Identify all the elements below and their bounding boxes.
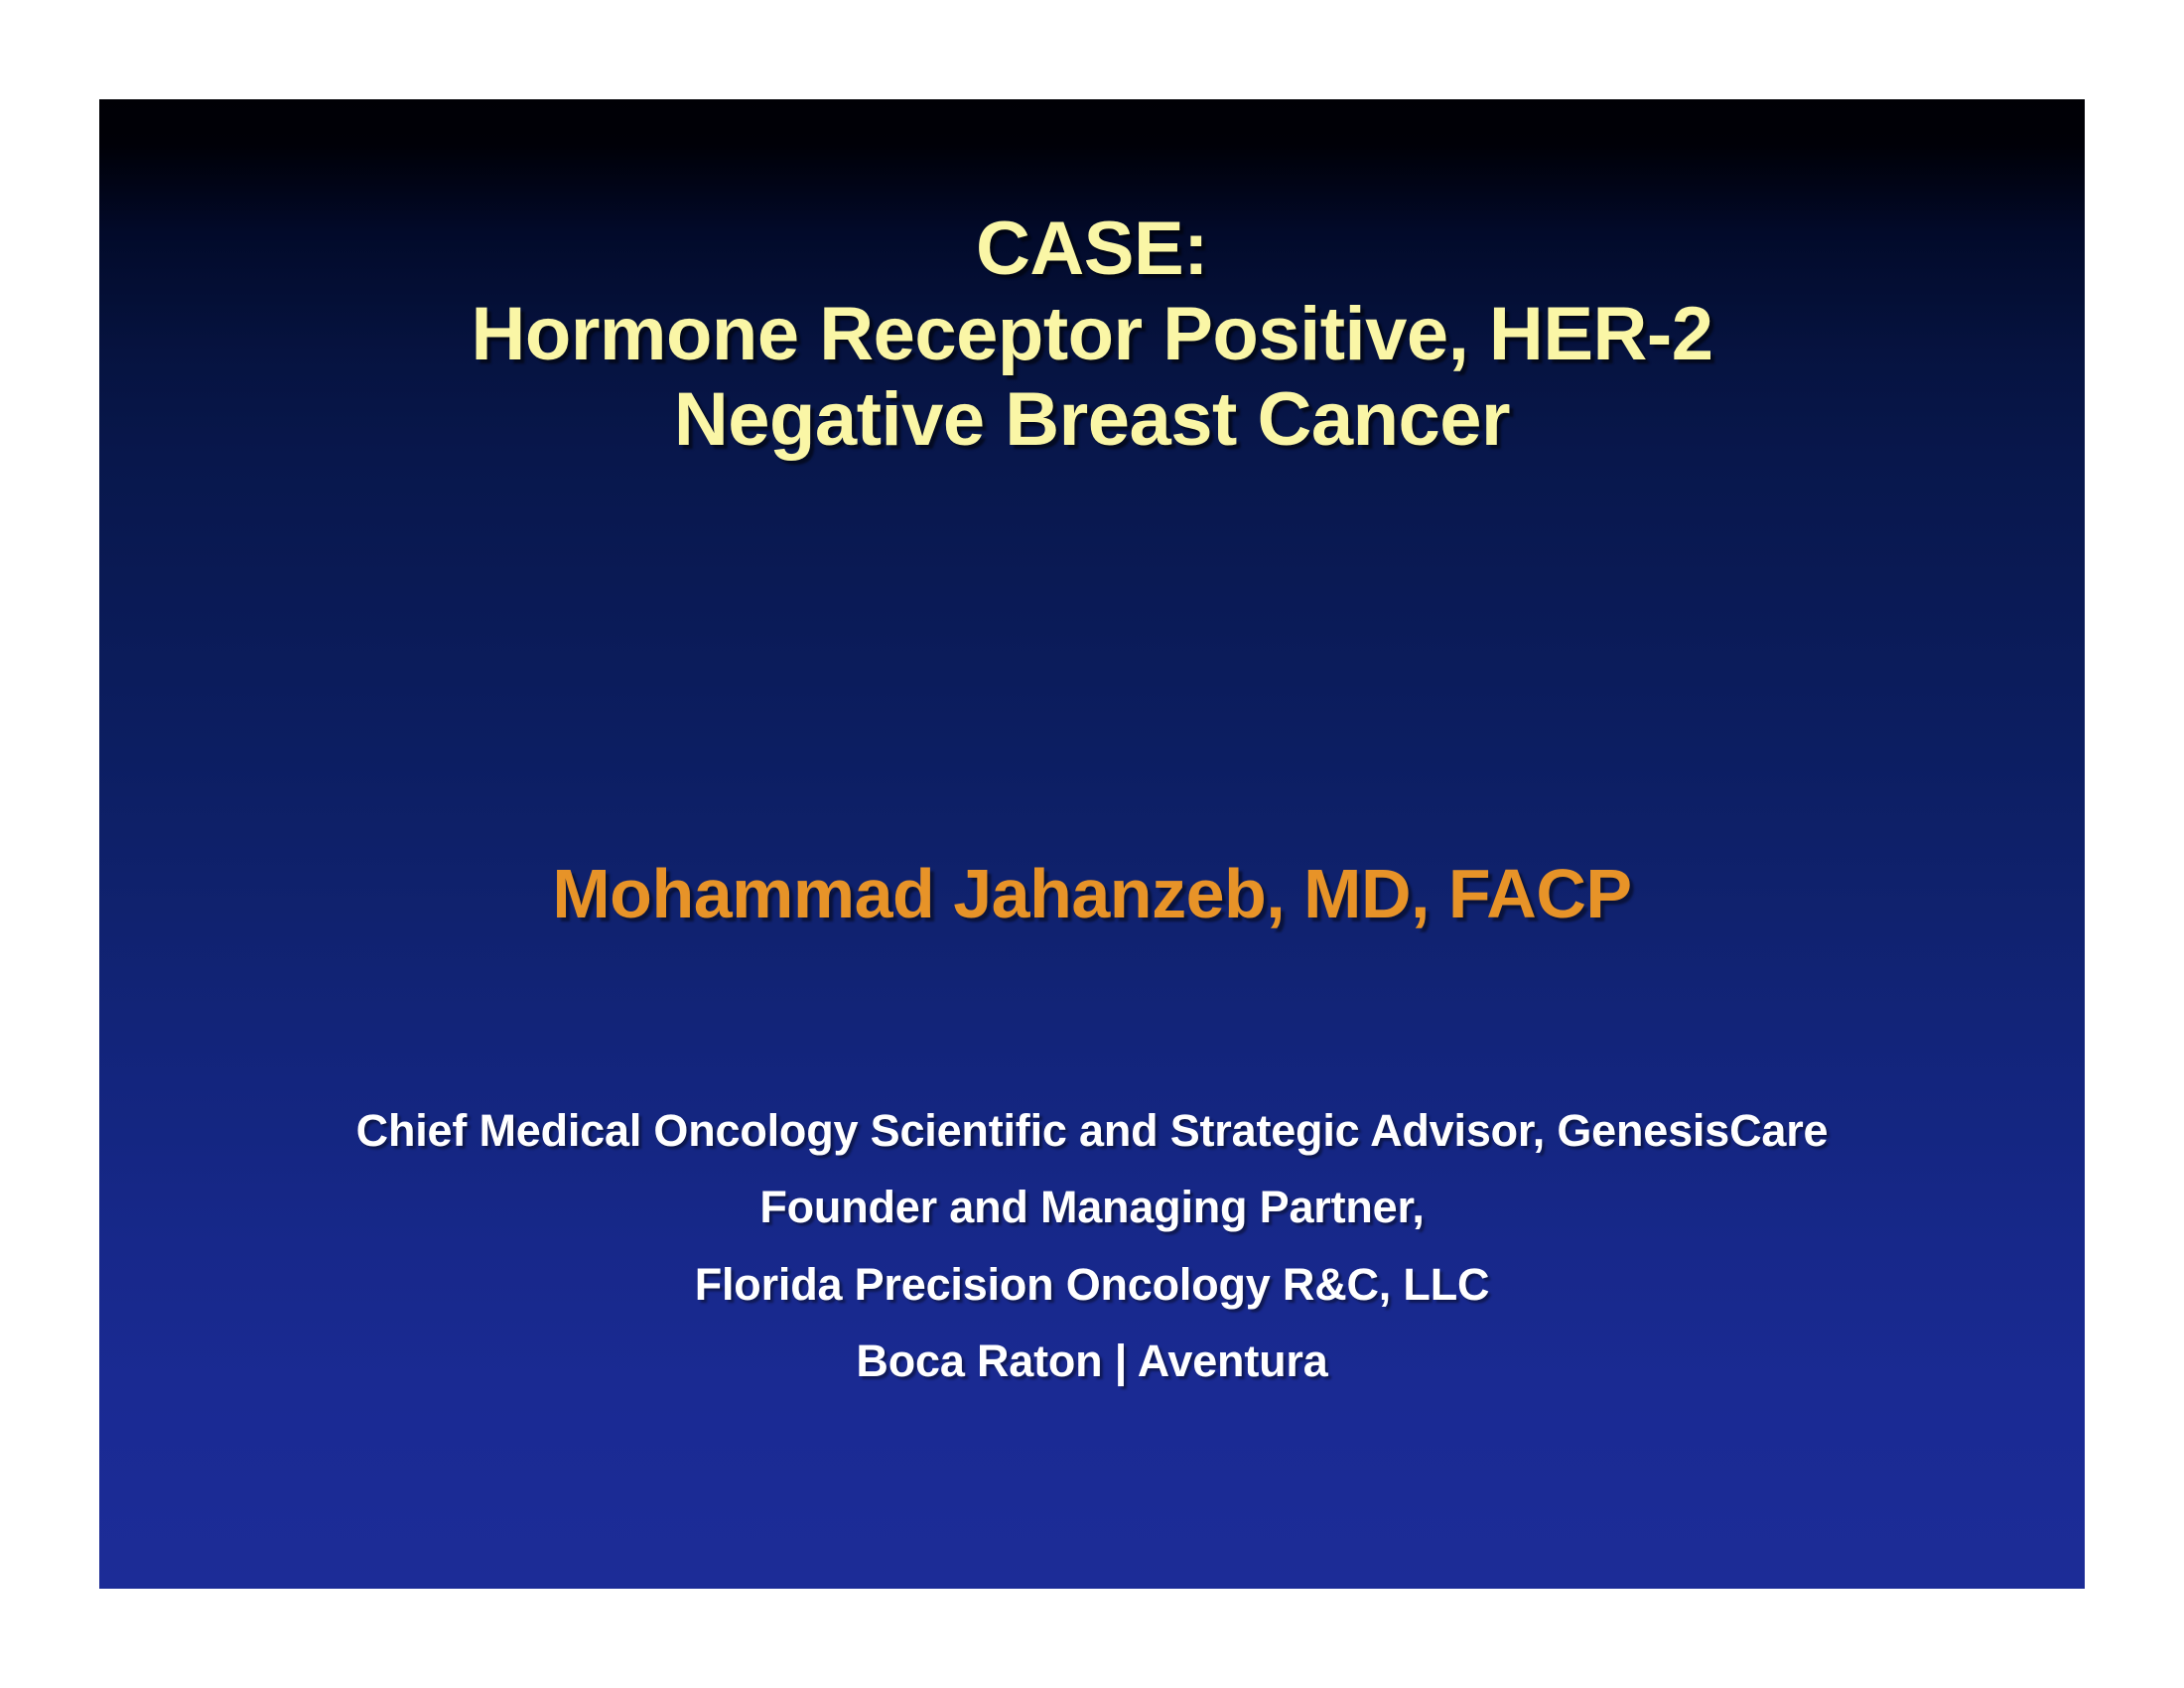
- presenter-name: Mohammad Jahanzeb, MD, FACP: [99, 854, 2085, 933]
- affiliation-line-4: Boca Raton | Aventura: [99, 1323, 2085, 1399]
- title-line-2: Hormone Receptor Positive, HER-2: [99, 292, 2085, 377]
- presentation-slide: CASE: Hormone Receptor Positive, HER-2 N…: [99, 99, 2085, 1589]
- title-line-3: Negative Breast Cancer: [99, 377, 2085, 463]
- affiliation-line-3: Florida Precision Oncology R&C, LLC: [99, 1246, 2085, 1323]
- title-line-1: CASE:: [99, 207, 2085, 292]
- affiliation-line-2: Founder and Managing Partner,: [99, 1169, 2085, 1245]
- slide-title: CASE: Hormone Receptor Positive, HER-2 N…: [99, 207, 2085, 463]
- page-canvas: CASE: Hormone Receptor Positive, HER-2 N…: [0, 0, 2184, 1688]
- presenter-affiliation: Chief Medical Oncology Scientific and St…: [99, 1092, 2085, 1400]
- affiliation-line-1: Chief Medical Oncology Scientific and St…: [99, 1092, 2085, 1169]
